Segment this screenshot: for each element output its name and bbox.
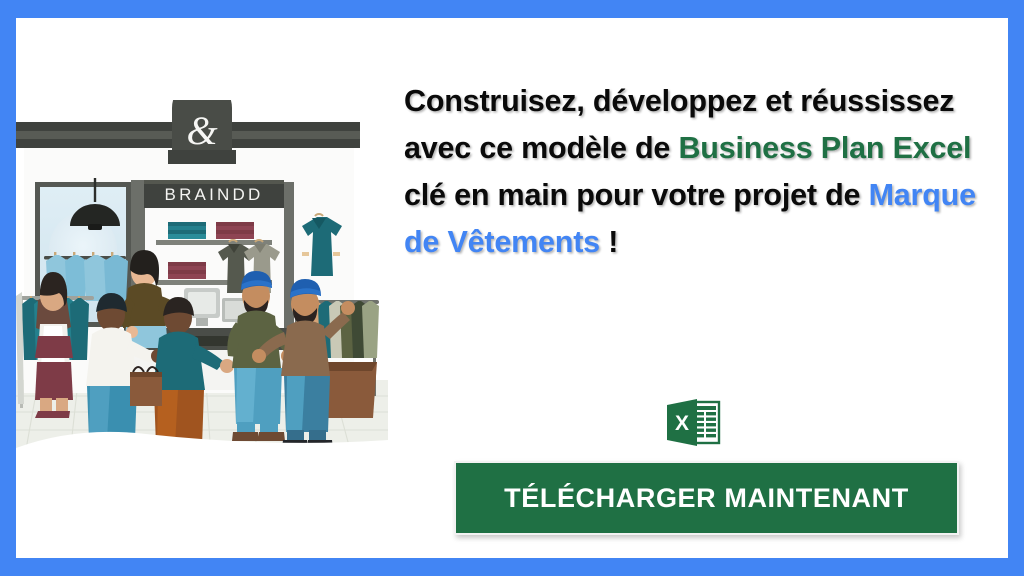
clothing-store-illustration: & — [16, 100, 388, 472]
promo-banner: & — [0, 0, 1024, 576]
excel-file-icon: X — [665, 398, 721, 448]
headline-part-3: ! — [600, 225, 618, 259]
svg-text:&: & — [186, 108, 217, 153]
headline-part-2: clé en main pour votre projet de — [404, 178, 869, 212]
svg-text:BRAINDD: BRAINDD — [165, 185, 264, 204]
download-now-label: TÉLÉCHARGER MAINTENANT — [504, 483, 909, 514]
promo-content: Construisez, développez et réussissez av… — [402, 78, 992, 548]
headline-highlight-green: Business Plan Excel — [678, 131, 971, 165]
excel-icon-letter: X — [675, 412, 689, 435]
page-title: Construisez, développez et réussissez av… — [402, 78, 992, 266]
banner-canvas: & — [16, 18, 1008, 558]
download-now-button[interactable]: TÉLÉCHARGER MAINTENANT — [454, 461, 959, 535]
